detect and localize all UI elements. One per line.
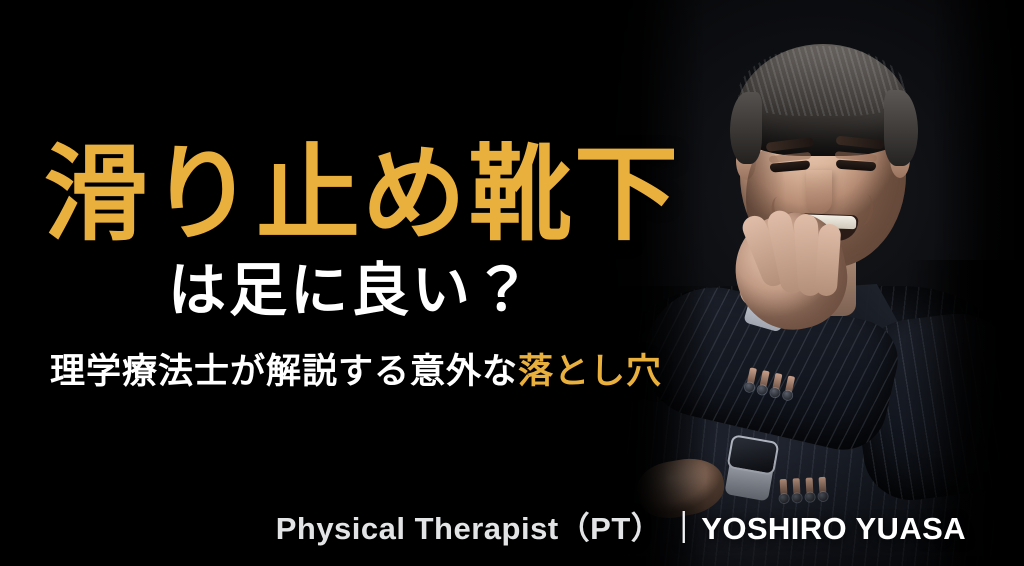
tagline-accent: 落とし穴 [518,352,662,391]
tagline: 理学療法士が解説する意外な落とし穴 [50,354,662,389]
tagline-lead: 理学療法士が解説する意外な [50,352,518,391]
text-block: 滑り止め靴下 は足に良い？ 理学療法士が解説する意外な落とし穴 [0,0,660,566]
credit-name: YOSHIRO YUASA [701,511,966,547]
hair-sideburn-left [730,92,762,164]
credit-role: Physical Therapist（PT） [276,503,663,548]
nose [806,170,832,214]
portrait-composite [596,0,1024,566]
credit-bar: Physical Therapist（PT） ｜ YOSHIRO YUASA [0,503,1024,548]
thumbnail-canvas: 滑り止め靴下 は足に良い？ 理学療法士が解説する意外な落とし穴 Physical… [0,0,1024,566]
subheadline: は足に良い？ [168,262,534,320]
credit-separator: ｜ [668,503,699,548]
portrait-photo [596,0,1024,566]
headline: 滑り止め靴下 [44,143,680,247]
